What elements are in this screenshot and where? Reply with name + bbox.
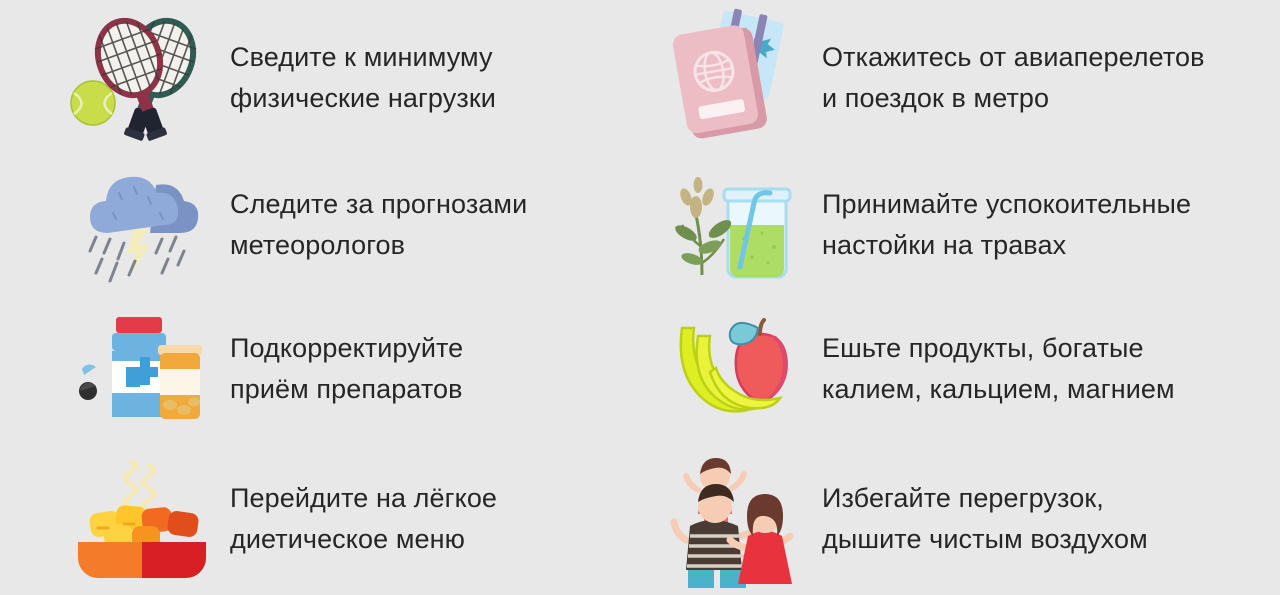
tip-label: Перейдите на лёгкое диетическое меню <box>222 478 497 560</box>
tennis-rackets-icon <box>62 8 222 148</box>
medicine-bottles-icon <box>62 299 222 439</box>
tip-label: Подкорректируйте приём препаратов <box>222 328 463 410</box>
children-playing-icon <box>658 449 808 589</box>
tip-limit-physical-activity: Сведите к минимуму физические нагрузки <box>0 0 640 155</box>
tip-avoid-air-travel-and-metro: Откажитесь от авиаперелетов и поездок в … <box>640 0 1280 155</box>
tip-switch-to-light-diet: Перейдите на лёгкое диетическое меню <box>0 443 640 595</box>
tip-adjust-medication-intake: Подкорректируйте приём препаратов <box>0 295 640 443</box>
tip-label: Сведите к минимуму физические нагрузки <box>222 37 496 119</box>
tip-label: Принимайте успокоительные настойки на тр… <box>808 184 1191 266</box>
tip-label: Следите за прогнозами метеорологов <box>222 184 527 266</box>
health-tips-infographic: Сведите к минимуму физические нагрузки <box>0 0 1280 595</box>
passport-tickets-icon <box>658 8 808 148</box>
banana-apple-icon <box>658 299 808 439</box>
tip-take-herbal-sedatives: Принимайте успокоительные настойки на тр… <box>640 155 1280 295</box>
steaming-food-bowl-icon <box>62 449 222 589</box>
tip-follow-weather-forecasts: Следите за прогнозами метеорологов <box>0 155 640 295</box>
tip-eat-potassium-calcium-magnesium: Ешьте продукты, богатые калием, кальцием… <box>640 295 1280 443</box>
rain-cloud-lightning-icon <box>62 155 222 295</box>
tip-label: Ешьте продукты, богатые калием, кальцием… <box>808 328 1175 410</box>
herb-jar-drink-icon <box>658 155 808 295</box>
tip-label: Избегайте перегрузок, дышите чистым возд… <box>808 478 1148 560</box>
tip-avoid-overload-breathe-clean-air: Избегайте перегрузок, дышите чистым возд… <box>640 443 1280 595</box>
tip-label: Откажитесь от авиаперелетов и поездок в … <box>808 37 1205 119</box>
